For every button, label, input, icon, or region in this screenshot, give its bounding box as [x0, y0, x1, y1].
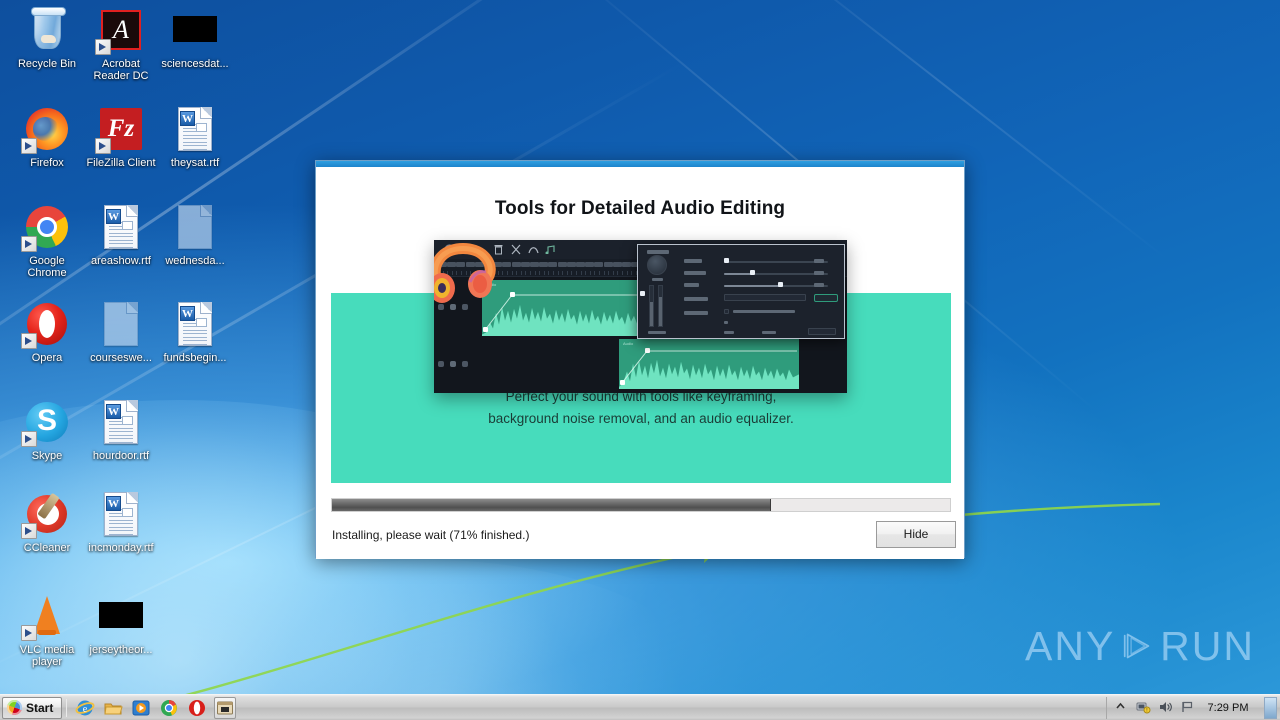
windows-orb-icon [7, 700, 22, 715]
ratio-slider-fill [724, 285, 780, 287]
filezilla-icon [97, 105, 145, 153]
start-button[interactable]: Start [2, 697, 62, 719]
install-status-text: Installing, please wait (71% finished.) [332, 528, 529, 542]
taskbar-installer-window-icon[interactable] [214, 697, 236, 719]
blank-doc-icon [171, 203, 219, 251]
desktop-icon-label: incmonday.rtf [84, 542, 158, 554]
threshold-slider-handle[interactable] [750, 270, 755, 275]
ruler-block [594, 262, 603, 267]
desktop-icon-filezilla-client[interactable]: FileZilla Client [84, 105, 158, 169]
rtf-doc-icon: W [97, 203, 145, 251]
install-progress-bar [331, 498, 951, 512]
recycle-bin-icon [23, 6, 71, 54]
desktop-icon-incmonday-rtf[interactable]: Wincmonday.rtf [84, 490, 158, 554]
option-checkbox[interactable] [724, 309, 729, 314]
ratio-value [814, 283, 824, 287]
ruler-tick [530, 271, 531, 275]
apply-button[interactable] [814, 294, 838, 302]
cut-scissors-icon [511, 244, 521, 255]
desktop-icon-label: jerseytheor... [84, 644, 158, 656]
desktop-icon-label: CCleaner [10, 542, 84, 554]
desktop[interactable]: Recycle BinAcrobat Reader DCsciencesdat.… [0, 0, 1280, 720]
ruler-tick [567, 271, 568, 275]
chrome-icon [23, 203, 71, 251]
ruler-block [622, 262, 631, 267]
shortcut-arrow-icon [21, 138, 37, 154]
shortcut-arrow-icon [21, 523, 37, 539]
vu-meter-left [649, 285, 654, 327]
footer-hint [762, 331, 776, 334]
ruler-tick [594, 271, 595, 275]
preset-dropdown[interactable] [724, 294, 806, 301]
sub-option-text [724, 321, 728, 324]
action-center-flag-icon[interactable] [1180, 700, 1195, 715]
rtf-doc-icon: W [97, 398, 145, 446]
ruler-tick [631, 271, 632, 275]
rtf-doc-icon: W [171, 300, 219, 348]
shortcut-arrow-icon [95, 138, 111, 154]
shortcut-arrow-icon [21, 236, 37, 252]
desktop-icon-firefox[interactable]: Firefox [10, 105, 84, 169]
fade-curve-icon [528, 245, 539, 254]
start-label: Start [26, 701, 53, 715]
ruler-tick [576, 271, 577, 275]
audio-editor-screenshot: Audio [434, 240, 847, 393]
ruler-tick [617, 271, 618, 275]
desktop-icon-label: courseswe... [84, 352, 158, 364]
vu-meter-right [658, 285, 663, 327]
keyframe-envelope [619, 339, 799, 389]
ruler-tick [599, 271, 600, 275]
desktop-icon-label: hourdoor.rtf [84, 450, 158, 462]
gain-slider-handle[interactable] [724, 258, 729, 263]
ruler-block [548, 262, 557, 267]
taskbar-internet-explorer-icon[interactable]: e [74, 697, 96, 719]
window-titlebar[interactable] [316, 161, 964, 168]
ruler-tick [604, 271, 605, 275]
row-label-preset [684, 297, 708, 301]
ruler-tick [512, 271, 513, 275]
desktop-icon-courseswe[interactable]: courseswe... [84, 300, 158, 364]
keyframe-point[interactable] [510, 292, 515, 297]
desktop-icon-fundsbegin[interactable]: Wfundsbegin... [158, 300, 232, 364]
desktop-icon-acrobat-reader-dc[interactable]: Acrobat Reader DC [84, 6, 158, 82]
row-label-gain [684, 259, 702, 263]
show-desktop-button[interactable] [1264, 697, 1277, 719]
meter-scale-label [648, 331, 666, 334]
desktop-icon-label: Skype [10, 450, 84, 462]
install-progress-fill [332, 499, 771, 511]
black-file-icon [171, 6, 219, 54]
ruler-block [512, 262, 521, 267]
desktop-icon-areashow-rtf[interactable]: Wareashow.rtf [84, 203, 158, 267]
desktop-icon-skype[interactable]: Skype [10, 398, 84, 462]
ruler-tick [548, 271, 549, 275]
desktop-icon-theysat-rtf[interactable]: Wtheysat.rtf [158, 105, 232, 169]
ruler-block [576, 262, 585, 267]
taskbar-media-player-icon[interactable] [130, 697, 152, 719]
desktop-icon-label: FileZilla Client [84, 157, 158, 169]
ruler-tick [558, 271, 559, 275]
desktop-icon-label: wednesda... [158, 255, 232, 267]
ruler-block [604, 262, 613, 267]
desktop-icon-ccleaner[interactable]: CCleaner [10, 490, 84, 554]
taskbar-chrome-icon[interactable] [158, 697, 180, 719]
network-icon[interactable]: ! [1136, 700, 1151, 715]
opera-icon [23, 300, 71, 348]
shortcut-arrow-icon [95, 39, 111, 55]
desktop-icon-label: theysat.rtf [158, 157, 232, 169]
keyframe-point[interactable] [483, 327, 488, 332]
svg-text:!: ! [1146, 708, 1147, 714]
taskbar[interactable]: Start e [0, 694, 1280, 720]
desktop-icon-google-chrome[interactable]: Google Chrome [10, 203, 84, 279]
svg-text:e: e [83, 704, 88, 715]
dialog-ok-button[interactable] [808, 328, 836, 335]
desktop-icon-opera[interactable]: Opera [10, 300, 84, 364]
meter-handle[interactable] [640, 291, 645, 296]
desktop-icon-vlc-media-player[interactable]: VLC media player [10, 592, 84, 668]
ruler-tick [516, 271, 517, 275]
taskbar-windows-explorer-icon[interactable] [102, 697, 124, 719]
watermark-text-left: ANY [1025, 623, 1115, 670]
acrobat-icon [97, 6, 145, 54]
ruler-block [539, 262, 548, 267]
desktop-icon-label: Acrobat Reader DC [84, 58, 158, 82]
ruler-tick [535, 271, 536, 275]
firefox-icon [23, 105, 71, 153]
ruler-tick [581, 271, 582, 275]
quicklaunch-separator [66, 699, 67, 717]
dialog-heading [647, 250, 669, 254]
show-hidden-icons-icon[interactable] [1114, 700, 1129, 715]
system-tray[interactable]: ! 7:29 PM [1106, 697, 1280, 719]
editor-settings-dialog [637, 244, 845, 339]
row-label-threshold [684, 271, 706, 275]
ruler-block [521, 262, 530, 267]
installer-window[interactable]: Tools for Detailed Audio Editing Perfect… [315, 160, 965, 558]
rtf-doc-icon: W [171, 105, 219, 153]
desktop-icon-recycle-bin[interactable]: Recycle Bin [10, 6, 84, 70]
play-triangle-logo-icon [1123, 622, 1152, 670]
desktop-icon-jerseytheor[interactable]: jerseytheor... [84, 592, 158, 656]
volume-knob[interactable] [647, 255, 667, 275]
headphones-illustration-icon [434, 240, 508, 316]
ratio-slider-handle[interactable] [778, 282, 783, 287]
skype-icon [23, 398, 71, 446]
ruler-tick [525, 271, 526, 275]
ruler-tick [521, 271, 522, 275]
blank-doc-icon [97, 300, 145, 348]
ruler-block [558, 262, 567, 267]
ruler-block [585, 262, 594, 267]
taskbar-clock[interactable]: 7:29 PM [1202, 702, 1254, 714]
option-text [733, 310, 795, 313]
shortcut-arrow-icon [21, 431, 37, 447]
editor-track-row: Audio [434, 339, 847, 389]
volume-icon[interactable] [1158, 700, 1173, 715]
rtf-doc-icon: W [97, 490, 145, 538]
footer-hint [724, 331, 734, 334]
ruler-tick [571, 271, 572, 275]
desktop-icon-hourdoor-rtf[interactable]: Whourdoor.rtf [84, 398, 158, 462]
desktop-icon-sciencesdat[interactable]: sciencesdat... [158, 6, 232, 70]
knob-value-label [652, 278, 663, 281]
ruler-block [567, 262, 576, 267]
anyrun-watermark: ANY RUN [1025, 618, 1255, 674]
ruler-tick [613, 271, 614, 275]
watermark-text-right: RUN [1160, 623, 1255, 670]
desktop-icon-label: sciencesdat... [158, 58, 232, 70]
music-note-icon [545, 245, 556, 254]
keyframe-point[interactable] [645, 348, 650, 353]
promo-caption-line-2: background noise removal, and an audio e… [331, 408, 951, 430]
desktop-icon-label: Opera [10, 352, 84, 364]
gain-value [814, 259, 824, 263]
ruler-tick [553, 271, 554, 275]
promo-title: Tools for Detailed Audio Editing [316, 198, 964, 220]
black-file-icon [97, 592, 145, 640]
vlc-icon [23, 592, 71, 640]
ruler-tick [585, 271, 586, 275]
desktop-icon-label: VLC media player [10, 644, 84, 668]
ruler-block [530, 262, 539, 267]
ccleaner-icon [23, 490, 71, 538]
keyframe-point[interactable] [620, 380, 625, 385]
threshold-slider-fill [724, 273, 752, 275]
ruler-tick [544, 271, 545, 275]
gain-slider-track[interactable] [724, 261, 828, 263]
ruler-tick [562, 271, 563, 275]
track-controls [438, 357, 478, 371]
desktop-icon-wednesda[interactable]: wednesda... [158, 203, 232, 267]
desktop-icon-label: fundsbegin... [158, 352, 232, 364]
desktop-icon-label: Recycle Bin [10, 58, 84, 70]
hide-button[interactable]: Hide [876, 521, 956, 548]
desktop-icon-label: Google Chrome [10, 255, 84, 279]
ruler-tick [539, 271, 540, 275]
shortcut-arrow-icon [21, 333, 37, 349]
row-label-ratio [684, 283, 699, 287]
shortcut-arrow-icon [21, 625, 37, 641]
ruler-tick [608, 271, 609, 275]
ruler-tick [622, 271, 623, 275]
ruler-tick [627, 271, 628, 275]
ruler-tick [590, 271, 591, 275]
audio-clip: Audio [619, 339, 799, 389]
desktop-icon-label: Firefox [10, 157, 84, 169]
installer-body: Tools for Detailed Audio Editing Perfect… [316, 168, 964, 559]
ruler-block [613, 262, 622, 267]
taskbar-opera-icon[interactable] [186, 697, 208, 719]
desktop-icon-label: areashow.rtf [84, 255, 158, 267]
row-label-options [684, 311, 708, 315]
threshold-value [814, 271, 824, 275]
